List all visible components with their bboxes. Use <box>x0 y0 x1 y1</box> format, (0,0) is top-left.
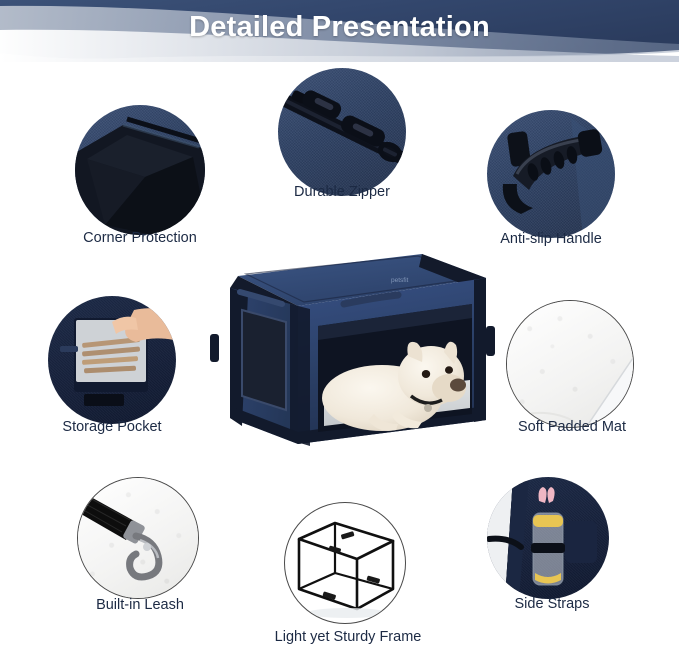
feature-label-light-yet-sturdy-frame: Light yet Sturdy Frame <box>275 629 422 645</box>
feature-label-durable-zipper: Durable Zipper <box>294 184 390 200</box>
crate-corner-icon <box>75 105 205 235</box>
header-banner: Detailed Presentation <box>0 0 679 62</box>
fleece-mat-icon <box>506 300 634 428</box>
infographic-page: Detailed Presentation <box>0 0 679 650</box>
zipper-icon <box>278 68 406 196</box>
brand-logo: petsfit <box>391 277 409 284</box>
bottle-strap-icon <box>487 477 609 599</box>
feature-label-side-straps: Side Straps <box>515 596 590 612</box>
feature-label-corner-protection: Corner Protection <box>83 230 197 246</box>
feature-label-soft-padded-mat: Soft Padded Mat <box>518 419 626 435</box>
feature-label-storage-pocket: Storage Pocket <box>62 419 161 435</box>
pocket-icon <box>48 296 176 424</box>
feature-label-anti-slip-handle: Anti-slip Handle <box>500 231 602 247</box>
leash-clip-icon <box>77 477 199 599</box>
feature-label-built-in-leash: Built-in Leash <box>96 597 184 613</box>
page-title: Detailed Presentation <box>0 11 679 44</box>
product-image-dog-crate: petsfit <box>186 248 516 470</box>
wireframe-box-icon <box>284 502 406 624</box>
handle-icon <box>487 110 615 238</box>
